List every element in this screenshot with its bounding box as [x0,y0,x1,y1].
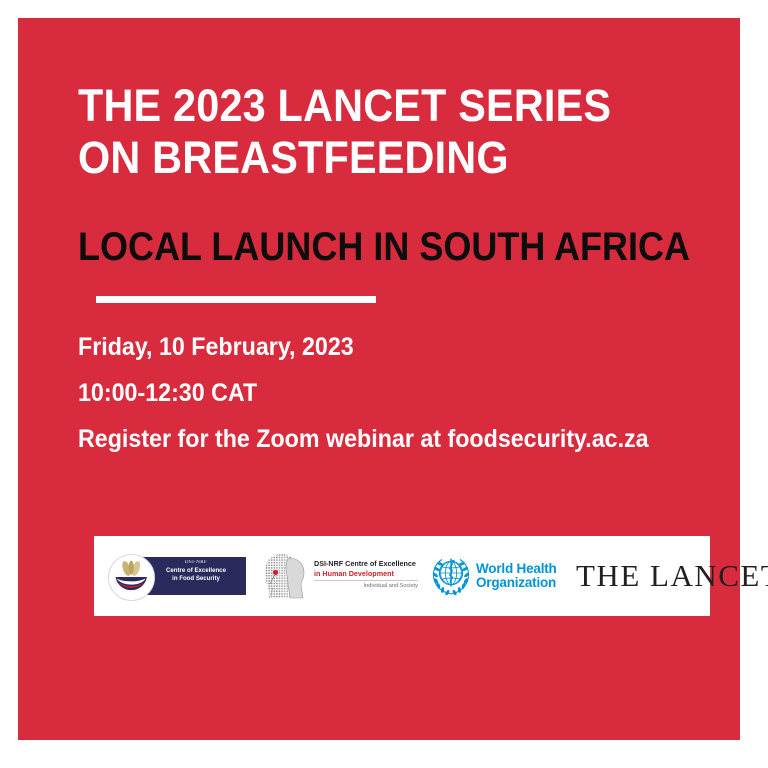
human-development-line-3: Individual and Society [314,583,418,589]
headline-line-1: THE 2023 LANCET SERIES [78,80,667,132]
event-details-block: Friday, 10 February, 2023 10:00-12:30 CA… [78,324,738,462]
human-development-line-2: in Human Development [314,569,418,578]
food-security-line-2: Centre of Excellence [148,567,244,575]
human-development-text: DSI-NRF Centre of Excellence in Human De… [314,559,418,589]
who-line-2: Organization [476,576,557,591]
event-date: Friday, 10 February, 2023 [78,324,692,370]
subtitle-block: LOCAL LAUNCH IN SOUTH AFRICA [78,224,738,270]
logo-human-development-slot: DSI-NRF Centre of Excellence in Human De… [246,536,418,616]
lancet-wordmark: THE LANCET [576,559,768,593]
headline-line-2: ON BREASTFEEDING [78,132,667,184]
logo-food-security: DSI-NRF Centre of Excellence in Food Sec… [108,554,246,598]
divider-rule [96,296,376,303]
logo-who-slot: World Health Organization [418,536,562,616]
food-security-line-1: DSI-NRF [148,559,244,567]
partner-logo-bar: DSI-NRF Centre of Excellence in Food Sec… [94,536,710,616]
human-development-rule [314,580,418,581]
poster-red-panel: THE 2023 LANCET SERIES ON BREASTFEEDING … [18,18,740,740]
subtitle-text: LOCAL LAUNCH IN SOUTH AFRICA [78,224,672,270]
food-security-plate-text: DSI-NRF Centre of Excellence in Food Sec… [148,559,244,584]
bowl-with-leaves-emblem-icon [108,554,155,601]
human-development-line-1: DSI-NRF Centre of Excellence [314,559,418,568]
logo-lancet-slot: THE LANCET [576,536,768,616]
logo-who: World Health Organization [430,554,562,598]
event-time: 10:00-12:30 CAT [78,370,692,416]
logo-human-development: DSI-NRF Centre of Excellence in Human De… [260,551,418,601]
who-wordmark: World Health Organization [476,562,557,591]
event-registration: Register for the Zoom webinar at foodsec… [78,416,692,462]
food-security-line-3: in Food Security [148,575,244,583]
headline-block: THE 2023 LANCET SERIES ON BREASTFEEDING [78,80,718,184]
who-line-1: World Health [476,562,557,577]
poster-canvas: THE 2023 LANCET SERIES ON BREASTFEEDING … [0,0,768,768]
who-globe-laurel-emblem-icon [430,555,472,597]
logo-food-security-slot: DSI-NRF Centre of Excellence in Food Sec… [94,536,246,616]
stylized-head-profile-icon [260,551,312,601]
